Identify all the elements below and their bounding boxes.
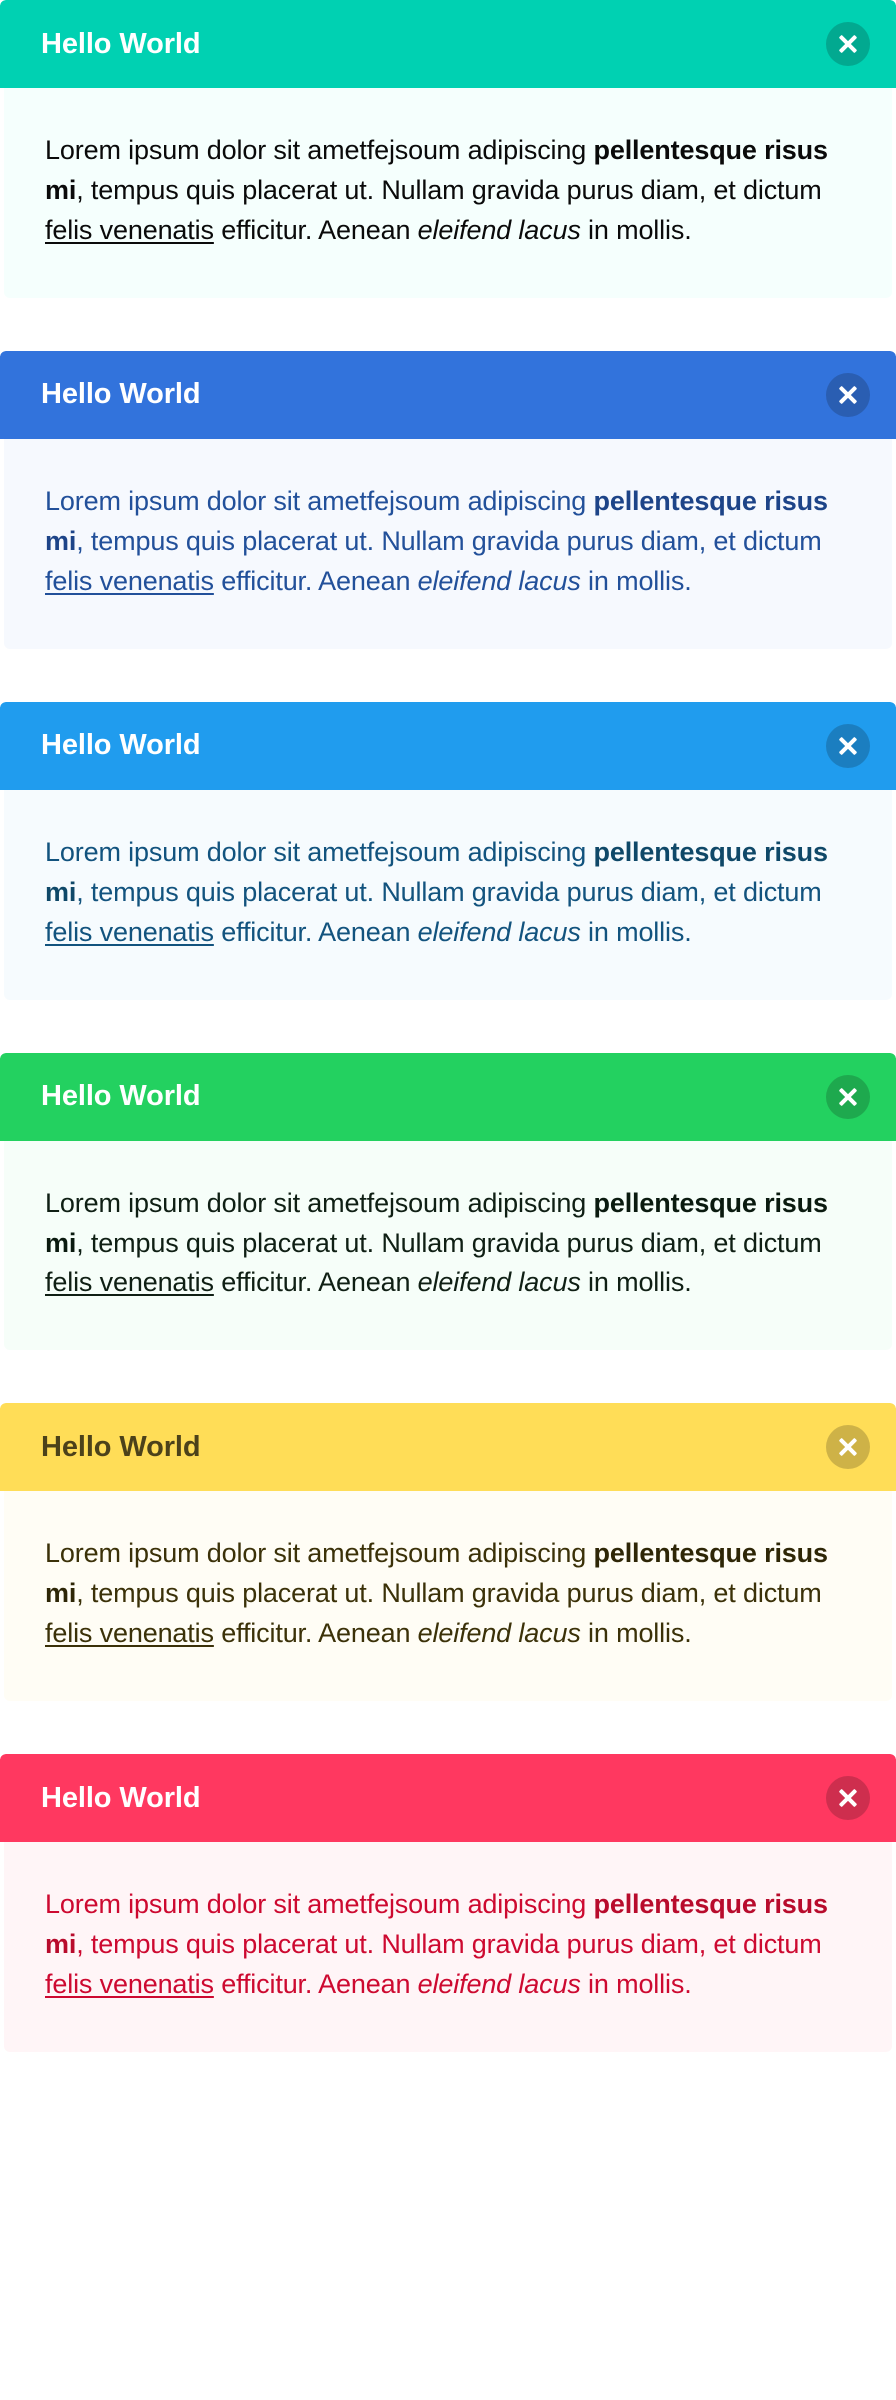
text-segment-1: Lorem ipsum dolor sit ametfejsoum adipis… — [45, 1538, 594, 1568]
text-segment-4: in mollis. — [581, 1618, 692, 1648]
close-icon[interactable] — [826, 1075, 870, 1119]
message-title: Hello World — [41, 1433, 200, 1462]
text-segment-3: efficitur. Aenean — [214, 1969, 418, 1999]
text-segment-4: in mollis. — [581, 215, 692, 245]
text-segment-4: in mollis. — [581, 1969, 692, 1999]
inline-link[interactable]: felis venenatis — [45, 566, 214, 596]
close-icon[interactable] — [826, 22, 870, 66]
message-body-primary: Lorem ipsum dolor sit ametfejsoum adipis… — [4, 88, 892, 298]
text-segment-4: in mollis. — [581, 1267, 692, 1297]
text-italic: eleifend lacus — [418, 1618, 581, 1648]
message-paragraph: Lorem ipsum dolor sit ametfejsoum adipis… — [45, 833, 851, 953]
message-body-info: Lorem ipsum dolor sit ametfejsoum adipis… — [4, 790, 892, 1000]
close-icon[interactable] — [826, 1425, 870, 1469]
text-segment-3: efficitur. Aenean — [214, 1267, 418, 1297]
text-italic: eleifend lacus — [418, 917, 581, 947]
close-icon[interactable] — [826, 724, 870, 768]
message-card-link: Hello World Lorem ipsum dolor sit ametfe… — [0, 351, 896, 649]
message-body-link: Lorem ipsum dolor sit ametfejsoum adipis… — [4, 439, 892, 649]
inline-link[interactable]: felis venenatis — [45, 1267, 214, 1297]
message-title: Hello World — [41, 731, 200, 760]
text-segment-1: Lorem ipsum dolor sit ametfejsoum adipis… — [45, 135, 594, 165]
message-header-link: Hello World — [0, 351, 896, 439]
text-italic: eleifend lacus — [418, 566, 581, 596]
text-segment-1: Lorem ipsum dolor sit ametfejsoum adipis… — [45, 486, 594, 516]
message-header-success: Hello World — [0, 1053, 896, 1141]
message-card-info: Hello World Lorem ipsum dolor sit ametfe… — [0, 702, 896, 1000]
text-segment-3: efficitur. Aenean — [214, 1618, 418, 1648]
message-title: Hello World — [41, 30, 200, 59]
text-segment-2: , tempus quis placerat ut. Nullam gravid… — [76, 526, 821, 556]
message-card-danger: Hello World Lorem ipsum dolor sit ametfe… — [0, 1754, 896, 2052]
message-body-success: Lorem ipsum dolor sit ametfejsoum adipis… — [4, 1141, 892, 1351]
text-segment-3: efficitur. Aenean — [214, 215, 418, 245]
close-icon[interactable] — [826, 1776, 870, 1820]
text-segment-1: Lorem ipsum dolor sit ametfejsoum adipis… — [45, 1889, 594, 1919]
inline-link[interactable]: felis venenatis — [45, 1969, 214, 1999]
text-segment-3: efficitur. Aenean — [214, 566, 418, 596]
message-header-danger: Hello World — [0, 1754, 896, 1842]
message-body-danger: Lorem ipsum dolor sit ametfejsoum adipis… — [4, 1842, 892, 2052]
message-gallery: Hello World Lorem ipsum dolor sit ametfe… — [0, 0, 896, 2400]
inline-link[interactable]: felis venenatis — [45, 215, 214, 245]
message-title: Hello World — [41, 1082, 200, 1111]
text-segment-2: , tempus quis placerat ut. Nullam gravid… — [76, 1578, 821, 1608]
text-italic: eleifend lacus — [418, 215, 581, 245]
text-italic: eleifend lacus — [418, 1267, 581, 1297]
text-italic: eleifend lacus — [418, 1969, 581, 1999]
text-segment-4: in mollis. — [581, 917, 692, 947]
message-title: Hello World — [41, 1784, 200, 1813]
message-paragraph: Lorem ipsum dolor sit ametfejsoum adipis… — [45, 1885, 851, 2005]
message-card-success: Hello World Lorem ipsum dolor sit ametfe… — [0, 1053, 896, 1351]
text-segment-2: , tempus quis placerat ut. Nullam gravid… — [76, 175, 821, 205]
text-segment-3: efficitur. Aenean — [214, 917, 418, 947]
text-segment-2: , tempus quis placerat ut. Nullam gravid… — [76, 877, 821, 907]
close-icon[interactable] — [826, 373, 870, 417]
text-segment-2: , tempus quis placerat ut. Nullam gravid… — [76, 1228, 821, 1258]
message-paragraph: Lorem ipsum dolor sit ametfejsoum adipis… — [45, 131, 851, 251]
text-segment-1: Lorem ipsum dolor sit ametfejsoum adipis… — [45, 837, 594, 867]
inline-link[interactable]: felis venenatis — [45, 1618, 214, 1648]
message-header-info: Hello World — [0, 702, 896, 790]
inline-link[interactable]: felis venenatis — [45, 917, 214, 947]
text-segment-1: Lorem ipsum dolor sit ametfejsoum adipis… — [45, 1188, 594, 1218]
message-paragraph: Lorem ipsum dolor sit ametfejsoum adipis… — [45, 1184, 851, 1304]
text-segment-2: , tempus quis placerat ut. Nullam gravid… — [76, 1929, 821, 1959]
message-header-warning: Hello World — [0, 1403, 896, 1491]
message-card-primary: Hello World Lorem ipsum dolor sit ametfe… — [0, 0, 896, 298]
message-paragraph: Lorem ipsum dolor sit ametfejsoum adipis… — [45, 1534, 851, 1654]
message-title: Hello World — [41, 380, 200, 409]
text-segment-4: in mollis. — [581, 566, 692, 596]
message-body-warning: Lorem ipsum dolor sit ametfejsoum adipis… — [4, 1491, 892, 1701]
message-header-primary: Hello World — [0, 0, 896, 88]
message-card-warning: Hello World Lorem ipsum dolor sit ametfe… — [0, 1403, 896, 1701]
message-paragraph: Lorem ipsum dolor sit ametfejsoum adipis… — [45, 482, 851, 602]
